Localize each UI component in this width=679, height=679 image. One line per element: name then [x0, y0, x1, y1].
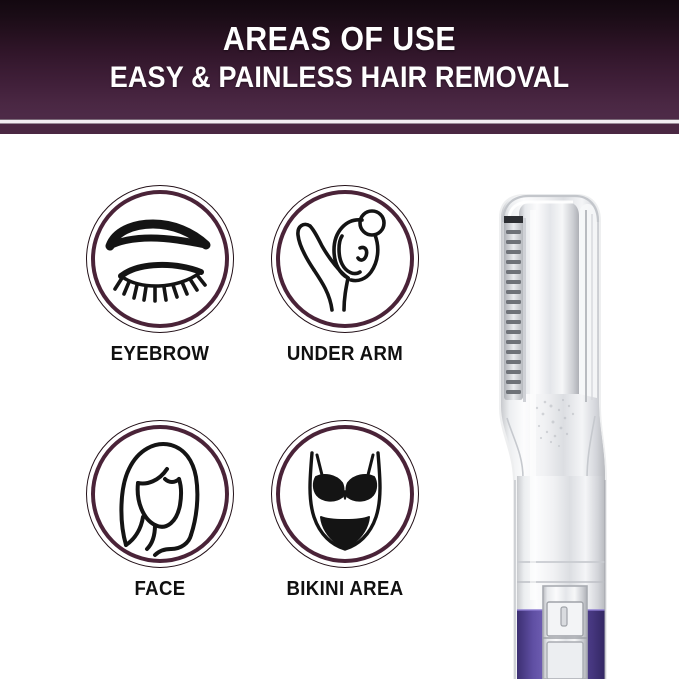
area-item-bikini-area[interactable]: BIKINI AREA [255, 420, 435, 635]
area-label-under-arm: UNDER ARM [261, 343, 428, 366]
bikini-area-icon [276, 425, 414, 563]
product-image-trimmer [455, 170, 679, 679]
header-banner: AREAS OF USE EASY & PAINLESS HAIR REMOVA… [0, 0, 679, 115]
area-label-bikini-area: BIKINI AREA [261, 578, 428, 601]
face-circle [86, 420, 234, 568]
area-label-face: FACE [76, 578, 243, 601]
under-arm-icon [276, 190, 414, 328]
eyebrow-circle [86, 185, 234, 333]
area-label-eyebrow: EYEBROW [76, 343, 243, 366]
area-item-eyebrow[interactable]: EYEBROW [70, 185, 250, 400]
page-subtitle: EASY & PAINLESS HAIR REMOVAL [34, 63, 645, 93]
areas-of-use-grid: EYEBROW [70, 185, 460, 625]
area-item-under-arm[interactable]: UNDER ARM [255, 185, 435, 400]
under-arm-circle [271, 185, 419, 333]
face-icon [91, 425, 229, 563]
eyebrow-icon [91, 190, 229, 328]
banner-divider-band-bottom [0, 124, 679, 134]
area-item-face[interactable]: FACE [70, 420, 250, 635]
bikini-area-circle [271, 420, 419, 568]
page-title: AREAS OF USE [27, 22, 652, 55]
